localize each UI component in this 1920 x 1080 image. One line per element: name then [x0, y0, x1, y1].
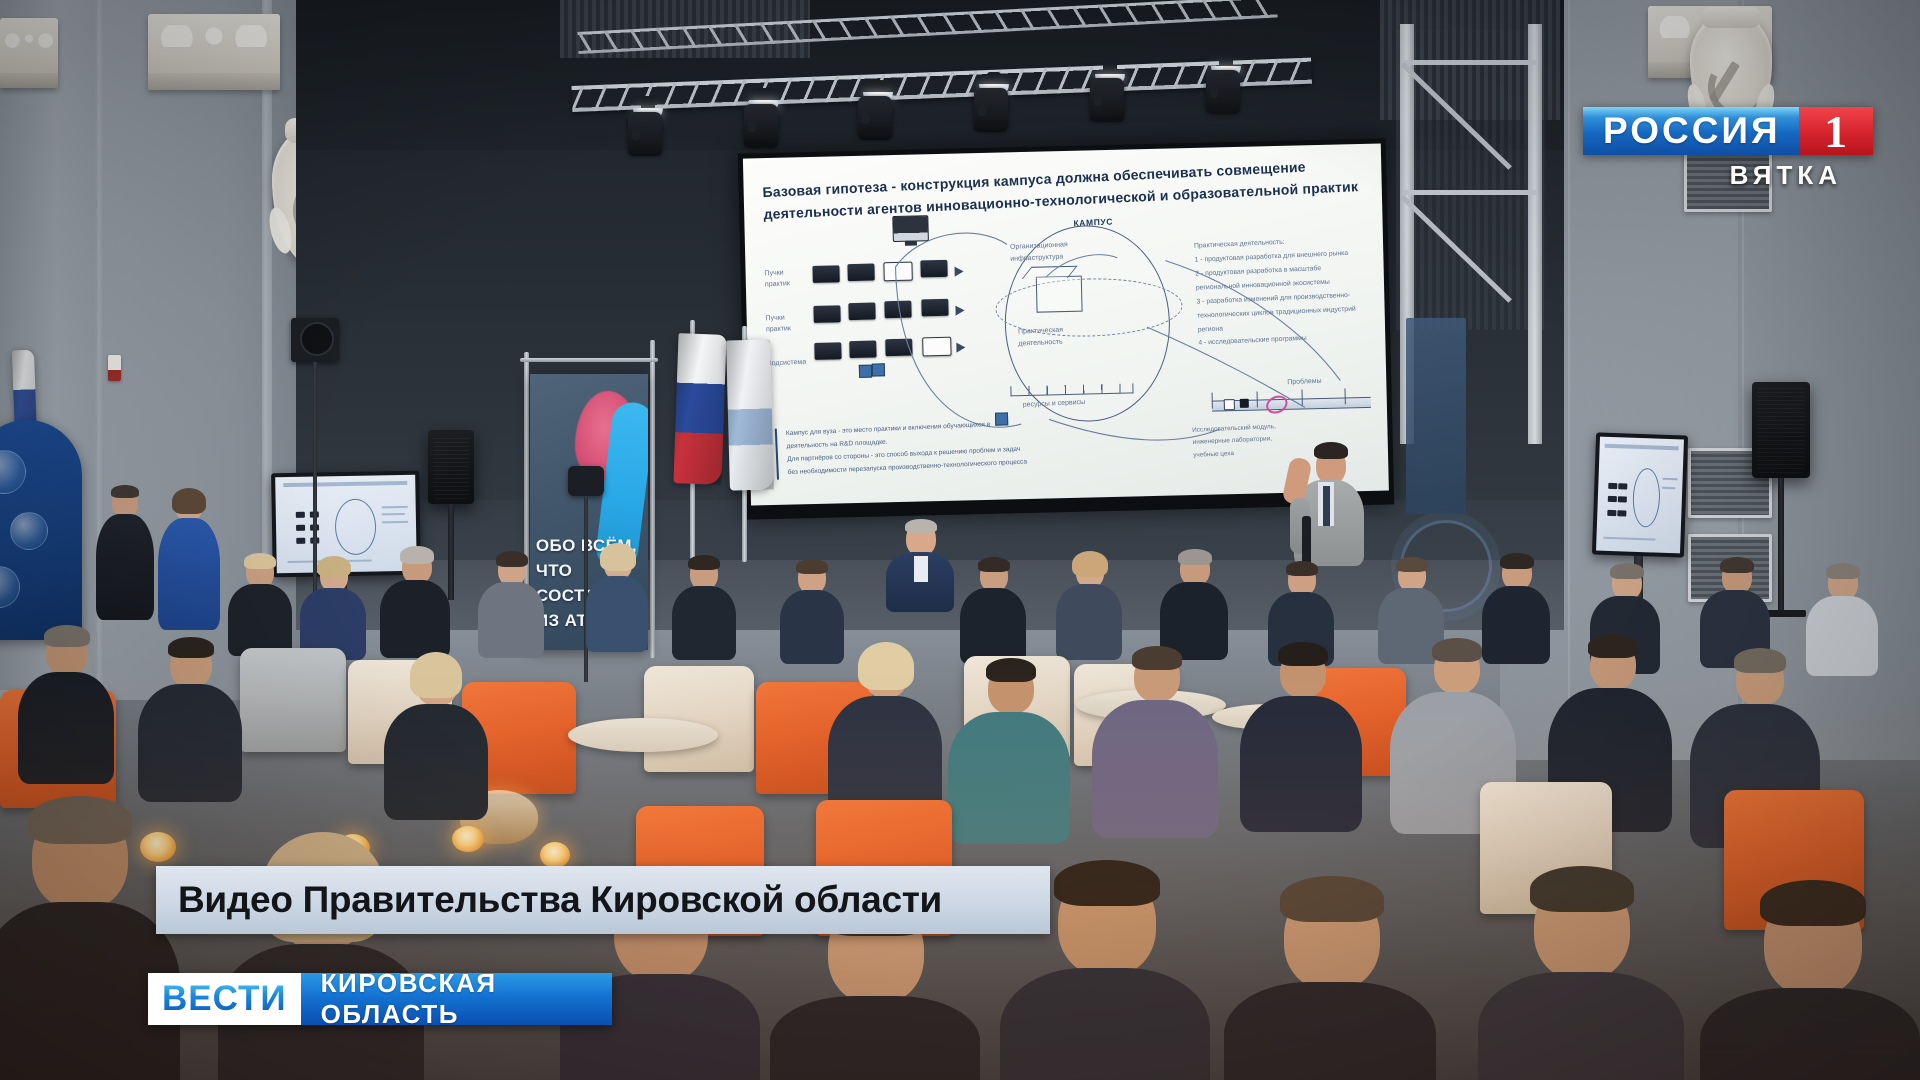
audience-back-9	[1056, 556, 1122, 656]
slide-left-label-3: Подсистема	[767, 358, 807, 370]
audience-mid-3	[384, 660, 488, 816]
stage-spotlight-4	[974, 72, 1014, 98]
stage-spotlight-6	[1206, 54, 1246, 80]
chair-grey-1	[240, 648, 346, 752]
slide-blue-node-1	[859, 364, 872, 377]
slide-chip-r2c2	[848, 303, 875, 321]
pa-speaker-left	[428, 430, 474, 504]
slide-arrow-r1	[955, 267, 964, 277]
column-capital-far-left	[0, 18, 58, 88]
channel-logo: РОССИЯ 1	[1583, 107, 1873, 155]
slide-chip-r2c4	[921, 299, 948, 317]
audience-mid-7	[1240, 648, 1362, 828]
audience-back-1	[228, 556, 292, 652]
decorative-blue-arch	[0, 420, 82, 640]
audience-back-5	[586, 548, 648, 648]
program-bug-logo: ВЕСТИ	[148, 973, 301, 1025]
slide-chip-r2c1	[813, 305, 840, 323]
slide-arrow-r3	[957, 343, 966, 353]
slide-blue-node-2	[872, 363, 885, 376]
slide-chip-r3c1	[814, 342, 841, 360]
slide-pipe-tick-4	[1344, 388, 1346, 404]
banner-pole-right	[650, 340, 655, 658]
slide-monitor-icon	[892, 215, 929, 242]
audience-back-10	[1160, 552, 1228, 656]
program-region-name: КИРОВСКАЯ ОБЛАСТЬ	[321, 968, 590, 1030]
scaffold-rung-1	[1404, 60, 1538, 65]
slide-chip-r1c2	[847, 264, 874, 282]
stage-spotlight-5	[1090, 62, 1130, 88]
crest-scroll-2	[1701, 7, 1760, 29]
slide-arrow-r2	[956, 305, 965, 315]
audience-mid-2	[138, 642, 242, 798]
slide-callout: Кампус для вуза - это место практики и в…	[774, 417, 1042, 480]
slide-chip-r3c2	[849, 340, 876, 358]
pa-speaker-right	[1752, 382, 1810, 478]
broadcast-camera-lens	[300, 322, 334, 356]
scaffold-post-right	[1528, 24, 1542, 444]
standing-attendee-1	[96, 488, 154, 618]
slide-pipe-tick-2	[1256, 391, 1258, 407]
audience-mid-6	[1092, 652, 1218, 834]
candle-4	[540, 842, 570, 868]
audience-mid-1	[18, 630, 114, 780]
stage-spotlight-1	[628, 96, 668, 122]
audience-mid-4	[828, 650, 942, 820]
audience-foreground-1	[0, 806, 180, 1080]
standing-attendee-2	[158, 492, 220, 628]
slide-pipe-node-light	[1224, 399, 1235, 410]
flag-region	[726, 339, 774, 490]
channel-region: ВЯТКА	[1730, 160, 1842, 191]
audience-back-7	[780, 562, 844, 660]
slide-chip-r3c4	[922, 337, 951, 357]
audience-back-6	[672, 558, 736, 656]
side-monitor-right-content	[1596, 437, 1684, 554]
slide-pipe-node-dark	[1240, 399, 1249, 408]
audience-mid-5	[948, 664, 1070, 840]
program-name: ВЕСТИ	[162, 979, 287, 1019]
slide-pipeline-label: Проблемы	[1287, 377, 1322, 389]
channel-number: 1	[1799, 107, 1873, 155]
mini-slide-title-2	[1605, 444, 1679, 451]
source-caption-text: Видео Правительства Кировской области	[156, 879, 942, 921]
flag-russia	[673, 333, 726, 485]
slide-chip-r2c3	[884, 301, 911, 319]
stage-panelist-seated	[884, 522, 956, 608]
slide-chip-r1c3	[883, 262, 912, 282]
broadcast-frame: Базовая гипотеза - конструкция кампуса д…	[0, 0, 1920, 1080]
slide-chip-r3c3	[885, 339, 912, 357]
audience-back-2	[300, 560, 366, 656]
round-table-1	[568, 718, 718, 752]
fire-alarm-device	[108, 355, 121, 381]
audience-back-8	[960, 560, 1026, 660]
slide-pipe-tick-3	[1301, 389, 1303, 405]
audience-foreground-7	[1478, 876, 1684, 1080]
audience-back-3	[380, 550, 450, 654]
slide-right-column: Практическая деятельность: 1 - продуктов…	[1194, 233, 1365, 352]
side-grid-panel	[1396, 30, 1546, 330]
channel-name: РОССИЯ	[1583, 107, 1799, 155]
source-caption-bar: Видео Правительства Кировской области	[156, 866, 1050, 934]
pa-speaker-right-pole	[1778, 478, 1784, 612]
scaffold-rung-2	[1404, 190, 1538, 195]
audience-foreground-6	[1224, 886, 1436, 1080]
mini-slide-title	[284, 481, 407, 487]
slide-left-label-1: Пучки практик	[764, 268, 790, 290]
slide-campus-label: КАМПУС	[1073, 216, 1113, 228]
slide-pipeline	[1211, 397, 1371, 412]
column-capital-left	[148, 14, 280, 90]
candle-3	[452, 826, 484, 852]
stage-spotlight-3	[858, 80, 898, 106]
slide-pipe-tick-1	[1212, 392, 1214, 408]
banner-crossbar	[520, 358, 658, 362]
side-banner-right	[1406, 318, 1466, 514]
slide-chip-r1c4	[920, 260, 947, 278]
program-bug-region: КИРОВСКАЯ ОБЛАСТЬ	[301, 973, 612, 1025]
slide-cube-icon	[1036, 276, 1083, 313]
stage-presenter	[1288, 442, 1370, 568]
audience-foreground-8	[1700, 890, 1920, 1080]
program-bug: ВЕСТИ КИРОВСКАЯ ОБЛАСТЬ	[148, 973, 612, 1025]
side-monitor-right	[1592, 432, 1688, 557]
audience-back-4	[478, 554, 544, 654]
camera-head-secondary	[568, 466, 604, 496]
slide-chip-r1c1	[812, 266, 839, 284]
stage-spotlight-2	[744, 88, 784, 114]
slide-highlight-ring	[1263, 392, 1290, 416]
slide-left-label-2: Пучки практик	[765, 313, 791, 335]
